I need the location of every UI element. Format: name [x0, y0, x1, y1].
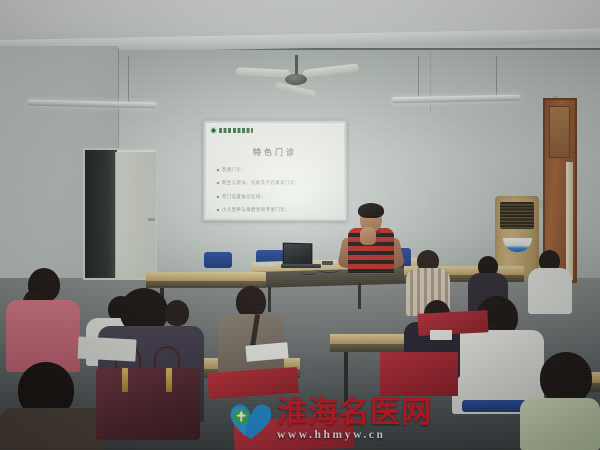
- slide-bullet-list: 普通门诊； 新生儿游泳、抚触及产后康复门诊； 专门设置候诊区域； 小儿营养与保健…: [217, 167, 336, 218]
- slide-bullet-text: 小儿营养与保健咨询专家门诊；: [222, 207, 290, 213]
- red-document-folder: [417, 310, 488, 336]
- right-door-gap: [566, 162, 573, 280]
- air-conditioner-grille: [500, 202, 534, 229]
- attendee-head: [540, 352, 592, 404]
- site-watermark: 淮海名医网 www.hhmyw.cn: [228, 398, 432, 442]
- slide-bullet-text: 专门设置候诊区域；: [222, 194, 266, 200]
- laptop-cable: [316, 264, 342, 273]
- presenter-hair: [358, 203, 384, 218]
- slide-bullet-text: 普通门诊；: [222, 167, 246, 173]
- attendee-body: [528, 268, 572, 314]
- right-door-window: [549, 106, 570, 158]
- bullet-dot-icon: [217, 169, 220, 172]
- watermark-site-name: 淮海名医网: [277, 398, 432, 428]
- light-wire: [128, 56, 129, 102]
- attendee-body: [520, 398, 600, 450]
- desk-paper: [256, 262, 274, 266]
- slide-page-number: 4: [209, 212, 211, 216]
- red-document-folder: [380, 352, 458, 396]
- student-desk: [146, 272, 266, 281]
- heart-cross-logo-icon: [228, 399, 272, 441]
- laptop-cable: [300, 268, 318, 275]
- attendee-body: [0, 408, 104, 450]
- air-conditioner-indicator-light: [509, 248, 525, 250]
- bullet-dot-icon: [217, 209, 220, 212]
- list-item: 小儿营养与保健咨询专家门诊；: [217, 207, 336, 213]
- attendee-head: [165, 300, 189, 326]
- photo-scene: 特色门诊 普通门诊； 新生儿游泳、抚触及产后康复门诊； 专门设置候诊区域； 小儿…: [0, 0, 600, 450]
- presentation-laptop-base[interactable]: [281, 264, 321, 268]
- table-leg: [268, 286, 271, 312]
- paper-sheet: [430, 330, 452, 340]
- light-wire: [418, 56, 419, 96]
- left-door-panel[interactable]: [115, 152, 156, 278]
- light-wire: [496, 56, 497, 96]
- list-item: 专门设置候诊区域；: [217, 194, 336, 200]
- hospital-emblem-icon: [210, 127, 217, 134]
- slide-org-logo: [210, 127, 253, 134]
- handbag-hardware: [122, 368, 128, 392]
- projection-screen: 特色门诊 普通门诊； 新生儿游泳、抚触及产后康复门诊； 专门设置候诊区域； 小儿…: [206, 123, 344, 218]
- watermark-url: www.hhmyw.cn: [277, 430, 432, 442]
- handbag-hardware: [166, 368, 172, 392]
- left-door-opening[interactable]: [85, 150, 117, 278]
- bullet-dot-icon: [217, 182, 220, 185]
- wall-joint-seam: [430, 52, 431, 112]
- list-item: 普通门诊；: [217, 167, 336, 173]
- slide-title: 特色门诊: [206, 147, 344, 158]
- classroom-chair: [204, 252, 232, 268]
- presenter-hands: [360, 227, 376, 245]
- paper-sheet: [77, 336, 136, 361]
- slide-bullet-text: 新生儿游泳、抚触及产后康复门诊；: [222, 180, 300, 186]
- handbag: [96, 368, 200, 440]
- presentation-laptop-screen[interactable]: [283, 243, 313, 266]
- bullet-dot-icon: [217, 195, 220, 198]
- table-leg: [358, 283, 361, 309]
- watermark-text-block: 淮海名医网 www.hhmyw.cn: [277, 398, 432, 442]
- list-item: 新生儿游泳、抚触及产后康复门诊；: [217, 180, 336, 186]
- ceiling-fan-motor: [285, 74, 307, 85]
- slide-org-name: [219, 128, 253, 133]
- door-handle-icon[interactable]: [148, 218, 155, 221]
